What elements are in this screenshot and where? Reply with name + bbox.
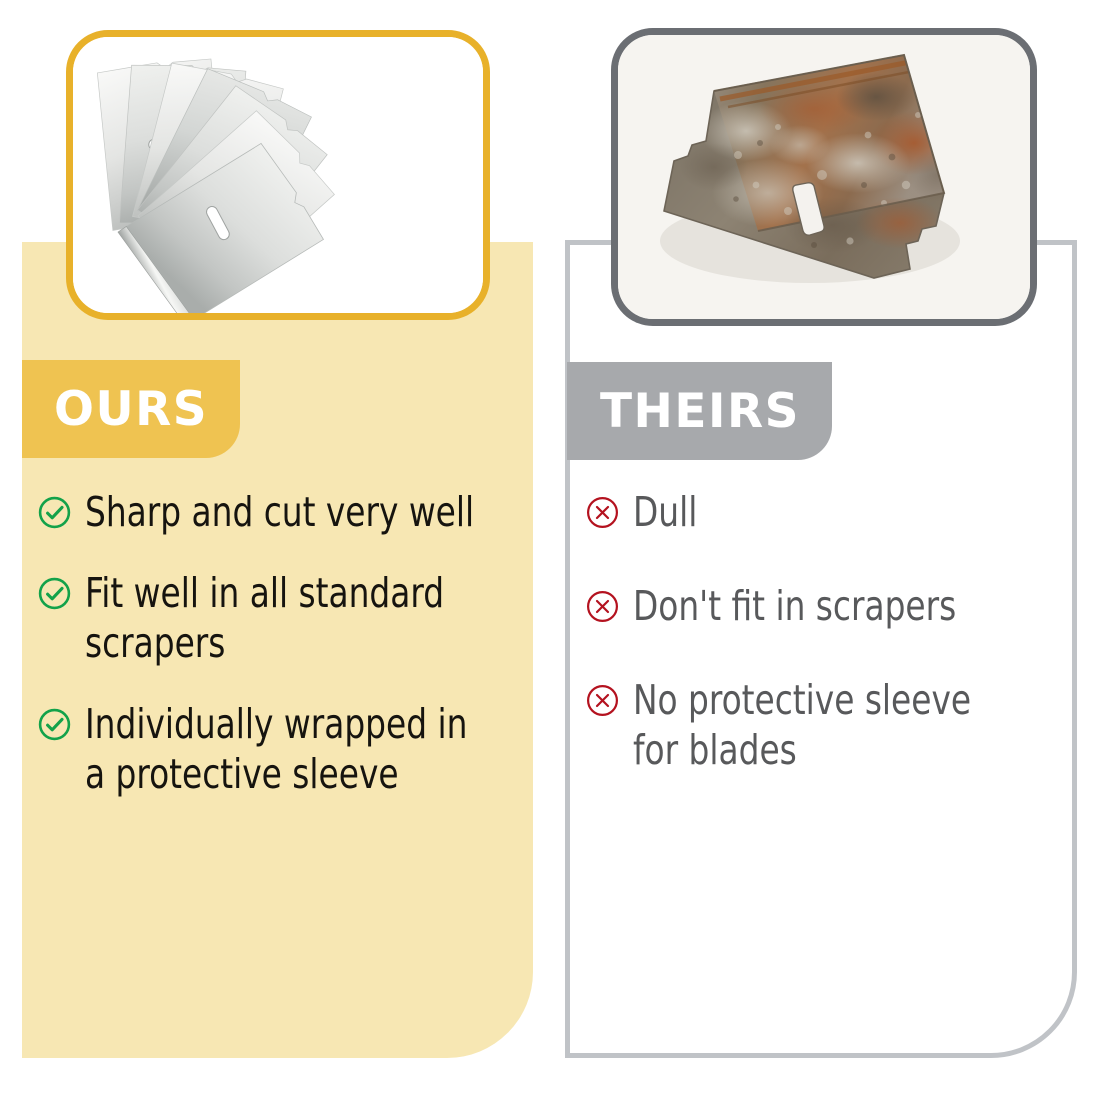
list-item-label: Dull [633,487,697,537]
theirs-feature-list: Dull Don't fit in scrapers No protective… [586,487,1056,819]
list-item-label: No protective sleeve for blades [633,675,971,775]
list-item: No protective sleeve for blades [586,675,1056,775]
check-circle-icon [38,577,71,610]
cross-circle-icon [586,590,619,623]
list-item: Fit well in all standard scrapers [38,568,528,668]
list-item-label: Individually wrapped in a protective sle… [85,699,467,799]
theirs-badge: THEIRS [567,362,832,460]
rusty-razor-blade-photo [618,35,1030,319]
list-item: Don't fit in scrapers [586,581,1056,631]
check-circle-icon [38,708,71,741]
list-item: Sharp and cut very well [38,487,528,537]
clean-razor-blades-photo [73,37,483,313]
cross-circle-icon [586,496,619,529]
ours-badge: OURS [22,360,240,458]
ours-feature-list: Sharp and cut very well Fit well in all … [38,487,528,830]
ours-image-card [66,30,490,320]
list-item: Individually wrapped in a protective sle… [38,699,528,799]
comparison-graphic: OURS THEIRS Sharp and cut very well Fit [0,0,1100,1100]
list-item-label: Sharp and cut very well [85,487,474,537]
list-item-label: Don't fit in scrapers [633,581,956,631]
list-item: Dull [586,487,1056,537]
theirs-badge-label: THEIRS [600,388,800,435]
list-item-label: Fit well in all standard scrapers [85,568,444,668]
cross-circle-icon [586,684,619,717]
theirs-image-card [611,28,1037,326]
ours-badge-label: OURS [54,386,208,433]
check-circle-icon [38,496,71,529]
